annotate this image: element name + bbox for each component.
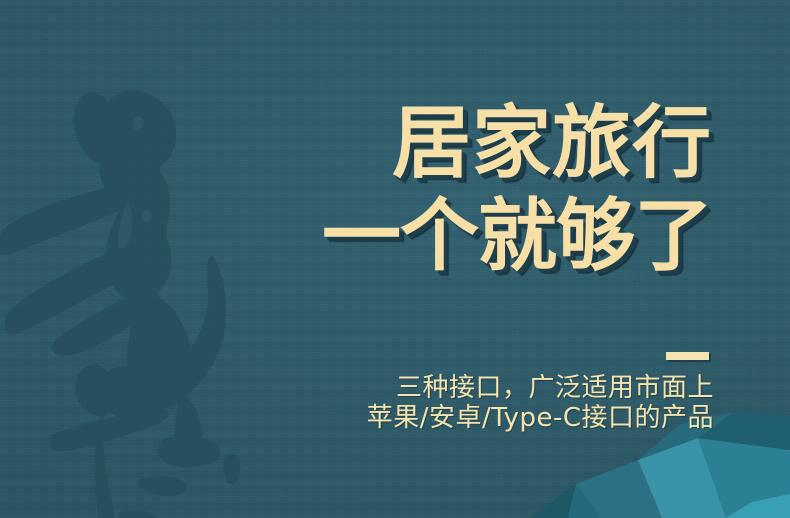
accent-dash <box>666 352 709 360</box>
headline: 居家旅行 一个就够了 <box>322 106 712 275</box>
headline-line-2: 一个就够了 <box>322 199 712 275</box>
subtitle-line-2: 苹果/安卓/Type-C接口的产品 <box>367 403 714 433</box>
promo-banner: 居家旅行 一个就够了 三种接口，广泛适用市面上 苹果/安卓/Type-C接口的产… <box>0 0 790 518</box>
subtitle: 三种接口，广泛适用市面上 苹果/安卓/Type-C接口的产品 <box>367 373 714 433</box>
subtitle-line-1: 三种接口，广泛适用市面上 <box>367 373 714 403</box>
headline-line-1: 居家旅行 <box>322 106 712 182</box>
